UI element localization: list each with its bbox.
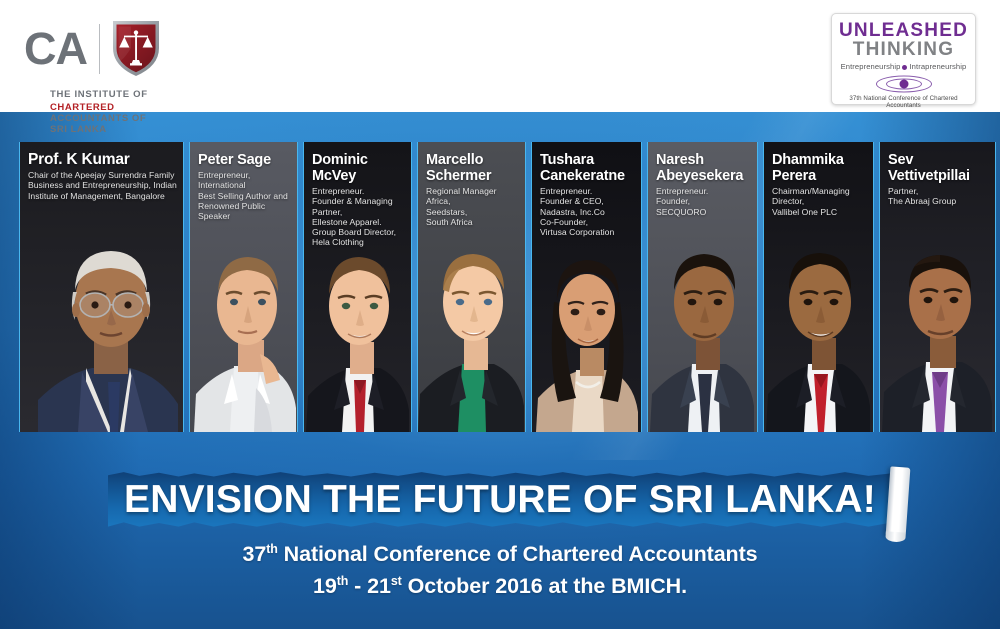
date-end-suffix: st <box>391 574 402 588</box>
speaker-info: Dominic McVey Entrepreneur. Founder & Ma… <box>312 152 406 248</box>
speaker-card-peter-sage[interactable]: Peter Sage Entrepreneur, International B… <box>190 142 297 432</box>
speaker-card-naresh-abeyesekera[interactable]: Naresh Abeyesekera Entrepreneur. Founder… <box>648 142 757 432</box>
logo-divider <box>99 24 100 74</box>
speaker-card-dominic-mcvey[interactable]: Dominic McVey Entrepreneur. Founder & Ma… <box>304 142 411 432</box>
speaker-info: Dhammika Perera Chairman/Managing Direct… <box>772 152 868 217</box>
ca-wordmark-line1: THE INSTITUTE OF <box>50 89 161 100</box>
conference-name-line: 37th National Conference of Chartered Ac… <box>0 536 1000 567</box>
speaker-card-marcello-schermer[interactable]: Marcello Schermer Regional Manager Afric… <box>418 142 525 432</box>
tagline-entrepreneurship: Entrepreneurship <box>841 62 901 71</box>
date-start-suffix: th <box>337 574 349 588</box>
unleashed-logo-footer: 37th National Conference of Chartered Ac… <box>832 95 975 109</box>
ca-wordmark-line2: CHARTERED ACCOUNTANTS OF SRI LANKA <box>50 102 161 135</box>
tagline-intrapreneurship: Intrapreneurship <box>909 62 966 71</box>
speaker-info: Tushara Canekeratne Entrepreneur. Founde… <box>540 152 636 237</box>
date-start: 19 <box>313 574 337 598</box>
date-separator: - 21 <box>348 574 391 598</box>
speaker-role: Entrepreneur. Founder & CEO, Nadastra, I… <box>540 186 636 237</box>
unleashed-thinking-logo: UNLEASHED THINKING EntrepreneurshipIntra… <box>831 13 976 105</box>
banner-title: ENVISION THE FUTURE OF SRI LANKA! <box>108 469 892 531</box>
speaker-name: Marcello Schermer <box>426 152 520 184</box>
conference-ordinal: 37 <box>242 542 266 566</box>
conference-title: National Conference of Chartered Account… <box>278 542 758 566</box>
speaker-strip: Prof. K Kumar Chair of the Apeejay Surre… <box>20 142 980 432</box>
ca-wordmark-rest: ACCOUNTANTS OF SRI LANKA <box>50 113 146 135</box>
speaker-name: Naresh Abeyesekera <box>656 152 752 184</box>
speaker-info: Sev Vettivetpillai Partner, The Abraaj G… <box>888 152 990 207</box>
speaker-role: Partner, The Abraaj Group <box>888 186 990 207</box>
speaker-info: Marcello Schermer Regional Manager Afric… <box>426 152 520 227</box>
ca-institute-logo: CA <box>24 23 161 75</box>
unleashed-logo-line2: THINKING <box>832 40 975 60</box>
speaker-card-prof-k-kumar[interactable]: Prof. K Kumar Chair of the Apeejay Surre… <box>20 142 183 432</box>
ca-letters: CA <box>24 26 87 72</box>
speaker-role: Regional Manager Africa, Seedstars, Sout… <box>426 186 520 227</box>
speaker-role: Entrepreneur, International Best Selling… <box>198 170 292 221</box>
speaker-info: Peter Sage Entrepreneur, International B… <box>198 152 292 221</box>
speaker-role: Entrepreneur. Founder & Managing Partner… <box>312 186 406 248</box>
envision-banner: ENVISION THE FUTURE OF SRI LANKA! <box>108 469 892 531</box>
footer-details: 37th National Conference of Chartered Ac… <box>0 536 1000 599</box>
header-bar: CA <box>0 0 1000 112</box>
ca-logo-mark: CA <box>24 23 161 75</box>
unleashed-logo-line1: UNLEASHED <box>832 21 975 40</box>
speaker-name: Prof. K Kumar <box>28 152 178 168</box>
speaker-role: Chair of the Apeejay Surrendra Family Bu… <box>28 170 178 201</box>
unleashed-logo-tagline: EntrepreneurshipIntrapreneurship <box>832 62 975 71</box>
speaker-info: Naresh Abeyesekera Entrepreneur. Founder… <box>656 152 752 217</box>
speaker-role: Entrepreneur. Founder, SECQUORO <box>656 186 752 217</box>
tagline-dot-icon <box>902 65 907 70</box>
speaker-name: Dhammika Perera <box>772 152 868 184</box>
speaker-role: Chairman/Managing Director, Vallibel One… <box>772 186 868 217</box>
speaker-card-tushara-canekeratne[interactable]: Tushara Canekeratne Entrepreneur. Founde… <box>532 142 641 432</box>
conference-ordinal-suffix: th <box>266 542 278 556</box>
speaker-card-dhammika-perera[interactable]: Dhammika Perera Chairman/Managing Direct… <box>764 142 873 432</box>
speaker-name: Sev Vettivetpillai <box>888 152 990 184</box>
scales-of-justice-shield-icon <box>111 18 161 78</box>
ca-institute-wordmark: THE INSTITUTE OF CHARTERED ACCOUNTANTS O… <box>50 89 161 135</box>
ripple-waves-icon <box>874 74 934 94</box>
speaker-card-sev-vettivetpillai[interactable]: Sev Vettivetpillai Partner, The Abraaj G… <box>880 142 995 432</box>
date-venue: October 2016 at the BMICH. <box>402 574 687 598</box>
conference-date-line: 19th - 21st October 2016 at the BMICH. <box>0 568 1000 599</box>
speaker-info: Prof. K Kumar Chair of the Apeejay Surre… <box>28 152 178 201</box>
speaker-name: Peter Sage <box>198 152 292 168</box>
ca-wordmark-chartered: CHARTERED <box>50 102 115 113</box>
speaker-name: Tushara Canekeratne <box>540 152 636 184</box>
conference-poster: CA <box>0 0 1000 629</box>
speaker-name: Dominic McVey <box>312 152 406 184</box>
